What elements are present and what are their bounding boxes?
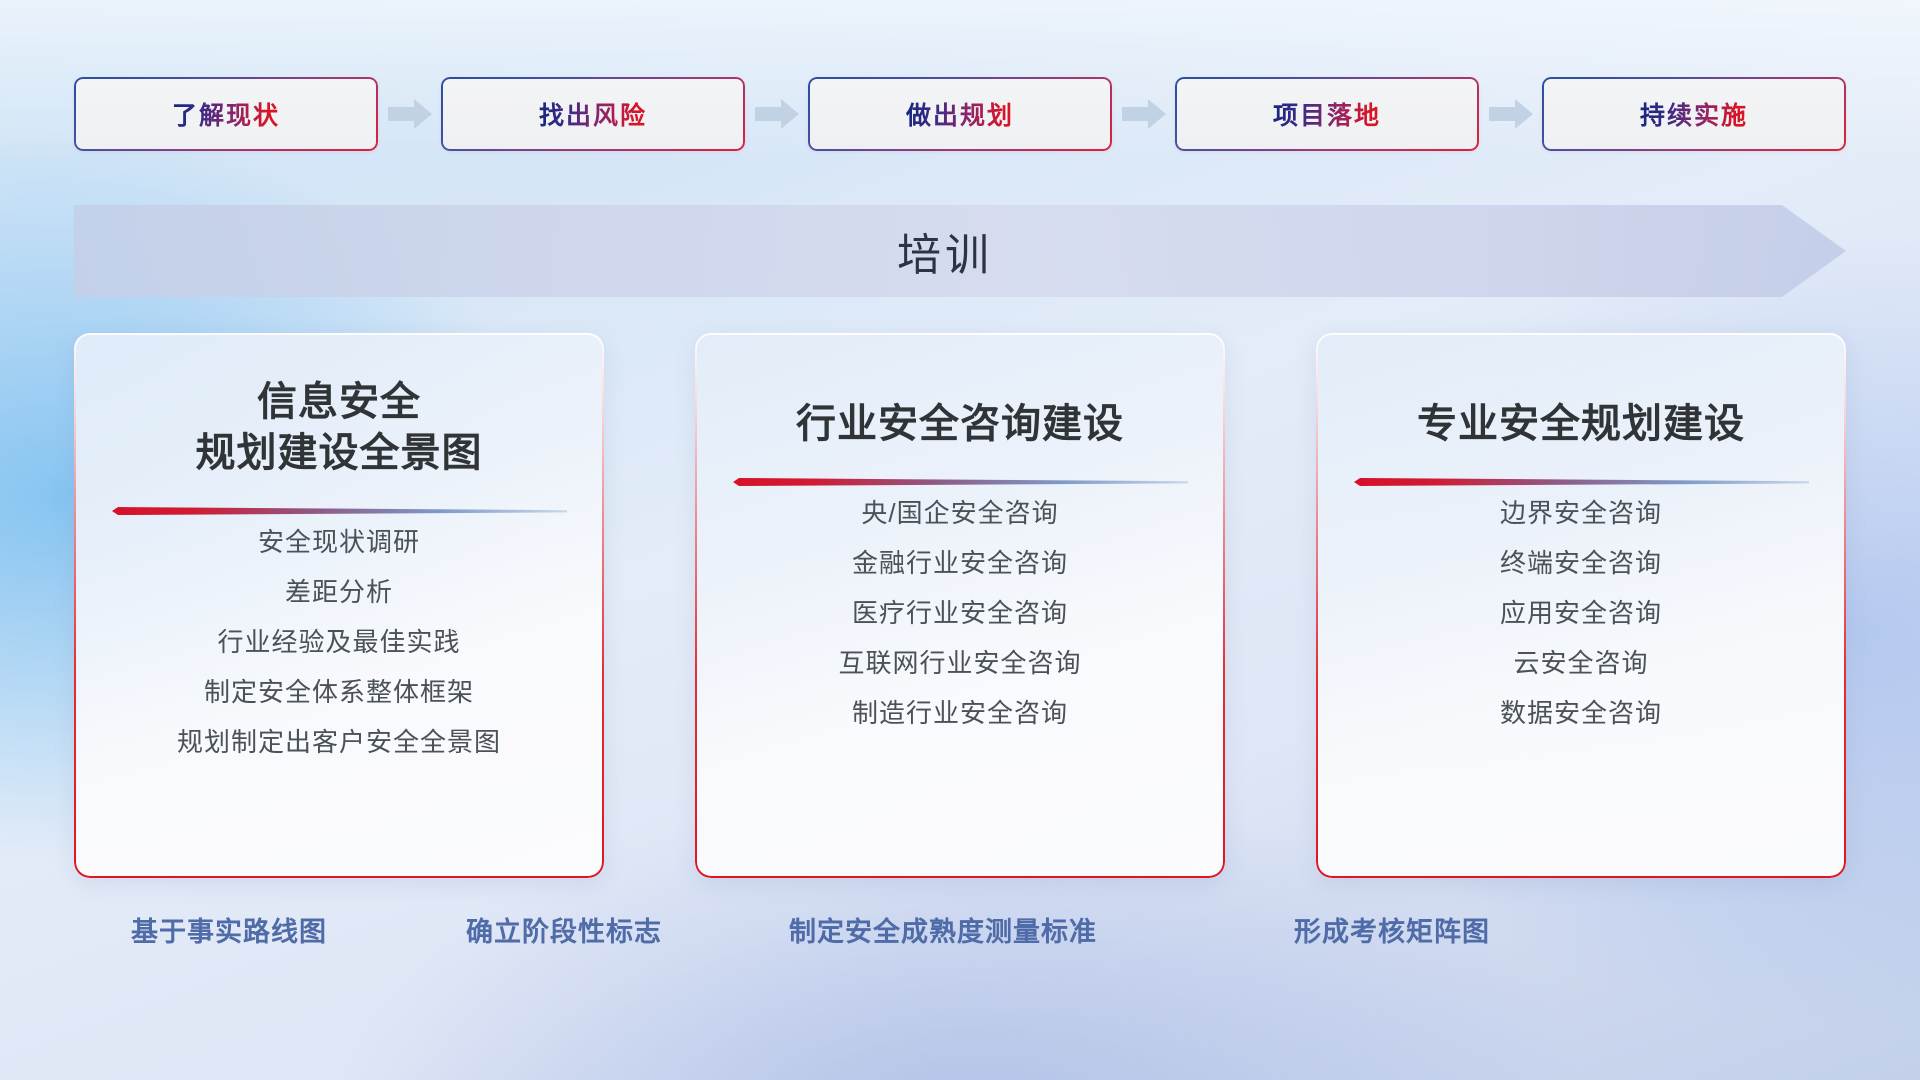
slide-canvas: 了解现状 找出风险 做出规划 项目落地 持续实施 培训 — [0, 0, 1920, 1080]
list-item: 制定安全体系整体框架 — [204, 667, 474, 717]
card-2[interactable]: 专业安全规划建设 边界安全咨询 — [1316, 333, 1846, 878]
footnote-2: 制定安全成熟度测量标准 — [789, 910, 1097, 949]
list-item: 安全现状调研 — [258, 517, 420, 567]
footnote-1: 确立阶段性标志 — [466, 910, 662, 949]
gradient-divider-icon-2 — [1354, 476, 1809, 488]
card-0[interactable]: 信息安全 规划建设全景图 安全现状调研 — [74, 333, 604, 878]
list-item: 差距分析 — [285, 567, 393, 617]
banner-title: 培训 — [74, 205, 1846, 297]
list-item: 金融行业安全咨询 — [852, 538, 1068, 588]
step-arrow-icon-3 — [1479, 99, 1542, 129]
list-item: 云安全咨询 — [1513, 638, 1648, 688]
list-item: 规划制定出客户安全全景图 — [177, 717, 501, 767]
footnote-row: 基于事实路线图 确立阶段性标志 制定安全成熟度测量标准 形成考核矩阵图 — [0, 910, 1920, 958]
step-arrow-icon-0 — [378, 99, 441, 129]
step-box-3[interactable]: 项目落地 — [1175, 77, 1479, 151]
card-title-1: 行业安全咨询建设 — [796, 399, 1124, 450]
card-list-0: 安全现状调研 差距分析 行业经验及最佳实践 制定安全体系整体框架 规划制定出客户… — [74, 517, 604, 767]
list-item: 医疗行业安全咨询 — [852, 588, 1068, 638]
training-banner: 培训 — [74, 205, 1846, 297]
footnote-3: 形成考核矩阵图 — [1294, 910, 1490, 949]
gradient-divider-icon-0 — [112, 505, 567, 517]
list-item: 互联网行业安全咨询 — [838, 638, 1081, 688]
list-item: 数据安全咨询 — [1500, 688, 1662, 738]
card-title-2: 专业安全规划建设 — [1417, 399, 1745, 450]
step-label-2: 做出规划 — [906, 96, 1014, 132]
list-item: 制造行业安全咨询 — [852, 688, 1068, 738]
step-label-4: 持续实施 — [1640, 96, 1748, 132]
step-box-1[interactable]: 找出风险 — [441, 77, 745, 151]
card-1[interactable]: 行业安全咨询建设 央/国企安全咨询 — [695, 333, 1225, 878]
process-step-row: 了解现状 找出风险 做出规划 项目落地 持续实施 — [74, 77, 1846, 151]
card-list-1: 央/国企安全咨询 金融行业安全咨询 医疗行业安全咨询 互联网行业安全咨询 制造行… — [695, 488, 1225, 738]
step-arrow-icon-2 — [1112, 99, 1175, 129]
step-label-1: 找出风险 — [539, 96, 647, 132]
list-item: 终端安全咨询 — [1500, 538, 1662, 588]
step-box-0[interactable]: 了解现状 — [74, 77, 378, 151]
step-label-3: 项目落地 — [1273, 96, 1381, 132]
step-label-0: 了解现状 — [172, 96, 280, 132]
footnote-0: 基于事实路线图 — [131, 910, 327, 949]
card-list-2: 边界安全咨询 终端安全咨询 应用安全咨询 云安全咨询 数据安全咨询 — [1316, 488, 1846, 738]
list-item: 边界安全咨询 — [1500, 488, 1662, 538]
list-item: 央/国企安全咨询 — [861, 488, 1058, 538]
card-row: 信息安全 规划建设全景图 安全现状调研 — [74, 333, 1846, 878]
step-box-4[interactable]: 持续实施 — [1542, 77, 1846, 151]
gradient-divider-icon-1 — [733, 476, 1188, 488]
card-title-0: 信息安全 规划建设全景图 — [196, 377, 483, 479]
list-item: 应用安全咨询 — [1500, 588, 1662, 638]
step-box-2[interactable]: 做出规划 — [808, 77, 1112, 151]
step-arrow-icon-1 — [745, 99, 808, 129]
list-item: 行业经验及最佳实践 — [217, 617, 460, 667]
